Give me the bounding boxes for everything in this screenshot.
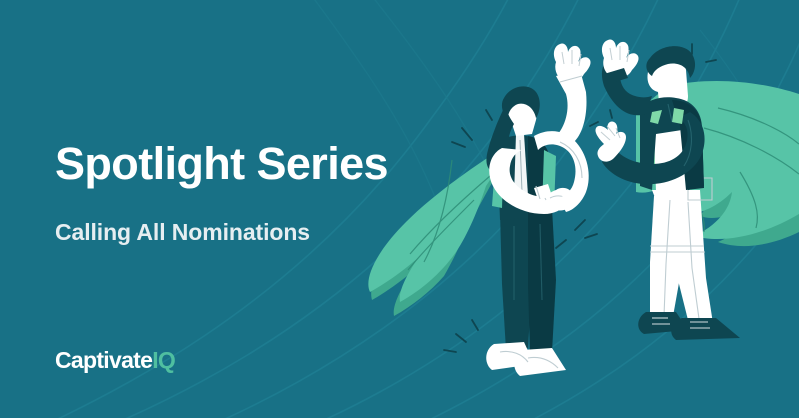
figure-right-man	[595, 39, 799, 340]
headline-block: Spotlight Series Calling All Nominations	[55, 140, 455, 247]
captivateiq-logo: CaptivateIQ	[55, 349, 175, 372]
logo-word-iq: IQ	[152, 347, 175, 373]
page-title: Spotlight Series	[55, 140, 455, 187]
logo-word-captivate: Captivate	[55, 347, 152, 373]
page-subtitle: Calling All Nominations	[55, 219, 455, 247]
spotlight-series-banner: Spotlight Series Calling All Nominations…	[0, 0, 799, 418]
